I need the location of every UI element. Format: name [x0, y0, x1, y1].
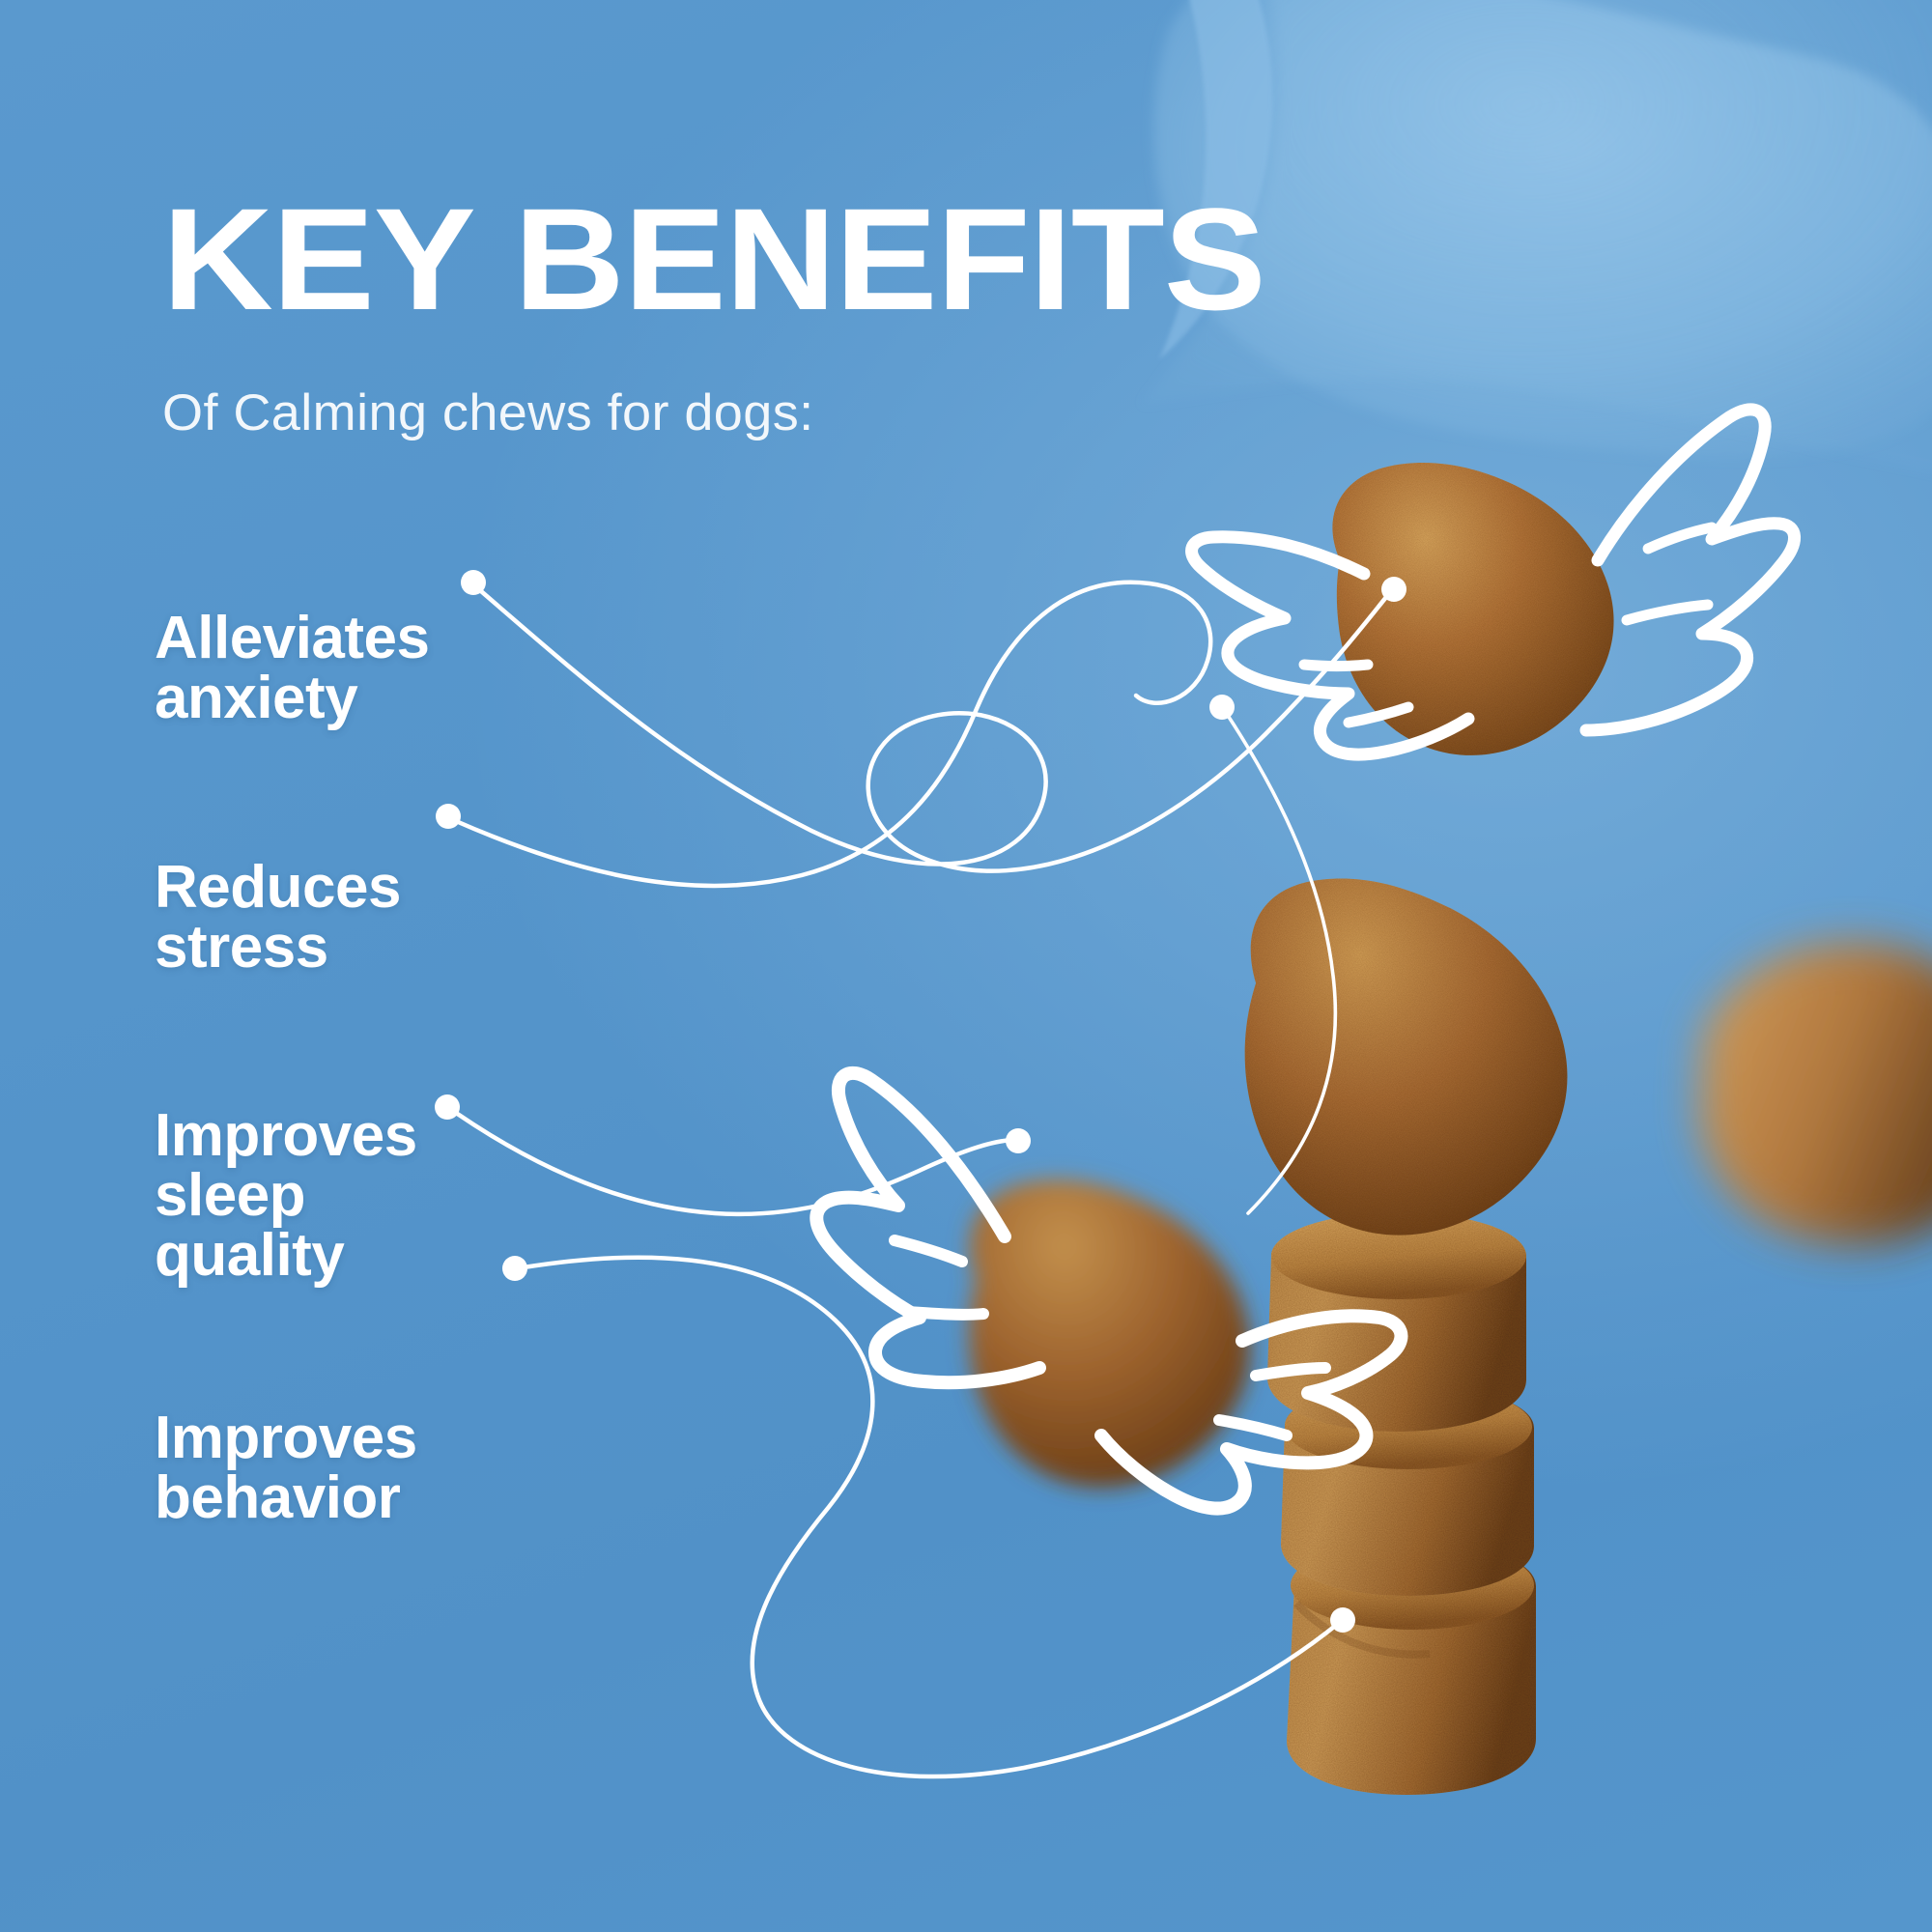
connector-dot-3-start: [435, 1094, 460, 1120]
connector-dot-2-end: [1209, 695, 1235, 720]
connector-dot-2-start: [436, 804, 461, 829]
page-subtitle: Of Calming chews for dogs:: [162, 384, 814, 442]
connector-line-1: [481, 591, 1391, 871]
page-title: KEY BENEFITS: [162, 189, 1265, 328]
benefit-item-4: Improves behavior: [155, 1408, 417, 1528]
connector-dot-1-end: [1381, 577, 1406, 602]
connector-line-3: [456, 1113, 1016, 1214]
benefit-item-3: Improves sleep quality: [155, 1106, 417, 1286]
connector-dot-3-end: [1006, 1128, 1031, 1153]
benefit-item-1: Alleviates anxiety: [155, 609, 430, 728]
connector-line-4: [524, 1258, 1339, 1776]
connector-dot-4-end: [1330, 1607, 1355, 1633]
connector-dot-1-start: [461, 570, 486, 595]
key-benefits-graphic: KEY BENEFITS Of Calming chews for dogs: …: [0, 0, 1932, 1932]
connector-line-2-tail: [1225, 711, 1335, 1213]
connector-dot-4-start: [502, 1256, 527, 1281]
benefit-item-2: Reduces stress: [155, 858, 401, 978]
